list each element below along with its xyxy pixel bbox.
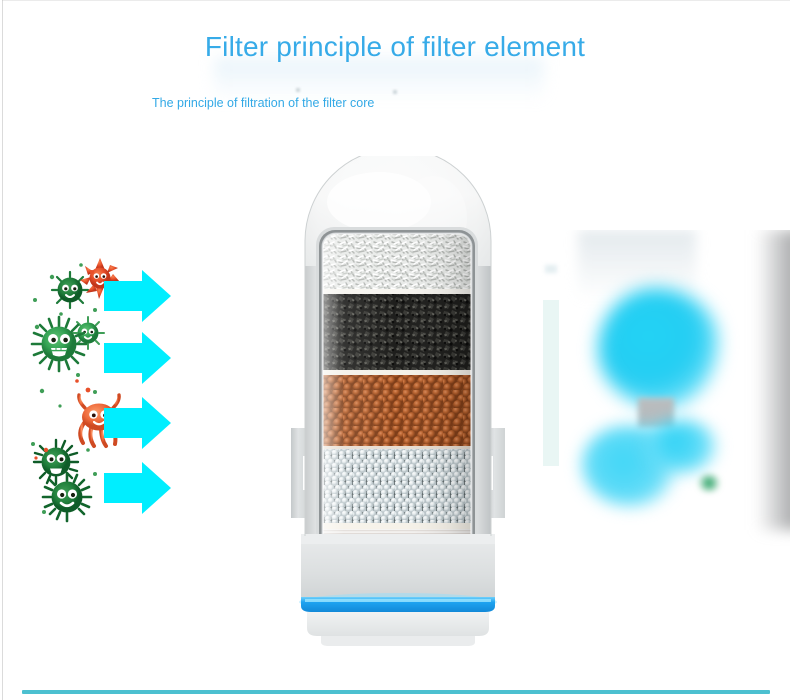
artifact-green-speck [696, 474, 722, 492]
purified-water-blob-lower-left [582, 426, 674, 506]
germ-specks [31, 263, 97, 514]
arrow-inflow-1 [104, 270, 171, 322]
germ-small-green-upper [52, 272, 88, 308]
germ-light-green-mid [72, 317, 104, 349]
ghost-speck-left [296, 88, 300, 92]
arrow-inflow-4 [104, 462, 171, 514]
arrow-inflow-3 [104, 397, 171, 449]
page-left-edge [2, 0, 3, 700]
page-root: Filter principle of filter element The p… [0, 0, 790, 700]
artifact-smudge-top [578, 230, 696, 300]
page-title: Filter principle of filter element [0, 31, 790, 63]
filter-media-stack [323, 234, 471, 584]
ghost-speck-right [393, 90, 397, 94]
arrow-inflow-2 [104, 332, 171, 384]
germ-specks-red [34, 270, 94, 460]
germ-red-spiky-top [80, 258, 120, 299]
footer-divider [22, 690, 770, 694]
artifact-neck [638, 398, 674, 428]
purified-water-blob [598, 288, 718, 408]
cartridge-base [299, 534, 497, 646]
pale-vertical-bar [543, 300, 559, 466]
artifact-smudge-right [756, 230, 790, 530]
output-blur-artifact [520, 230, 790, 550]
germ-green-bottom [43, 473, 91, 521]
pale-speck [545, 265, 557, 273]
germ-large-green-toothy [32, 317, 86, 371]
page-top-edge [2, 0, 790, 1]
page-subtitle: The principle of filtration of the filte… [152, 96, 374, 110]
purified-water-blob-lower-right [648, 420, 716, 472]
base-skirt [307, 612, 489, 636]
filter-cartridge [283, 156, 513, 646]
germ-orange-tentacled [79, 395, 119, 446]
germ-dark-green-lower [34, 440, 78, 484]
